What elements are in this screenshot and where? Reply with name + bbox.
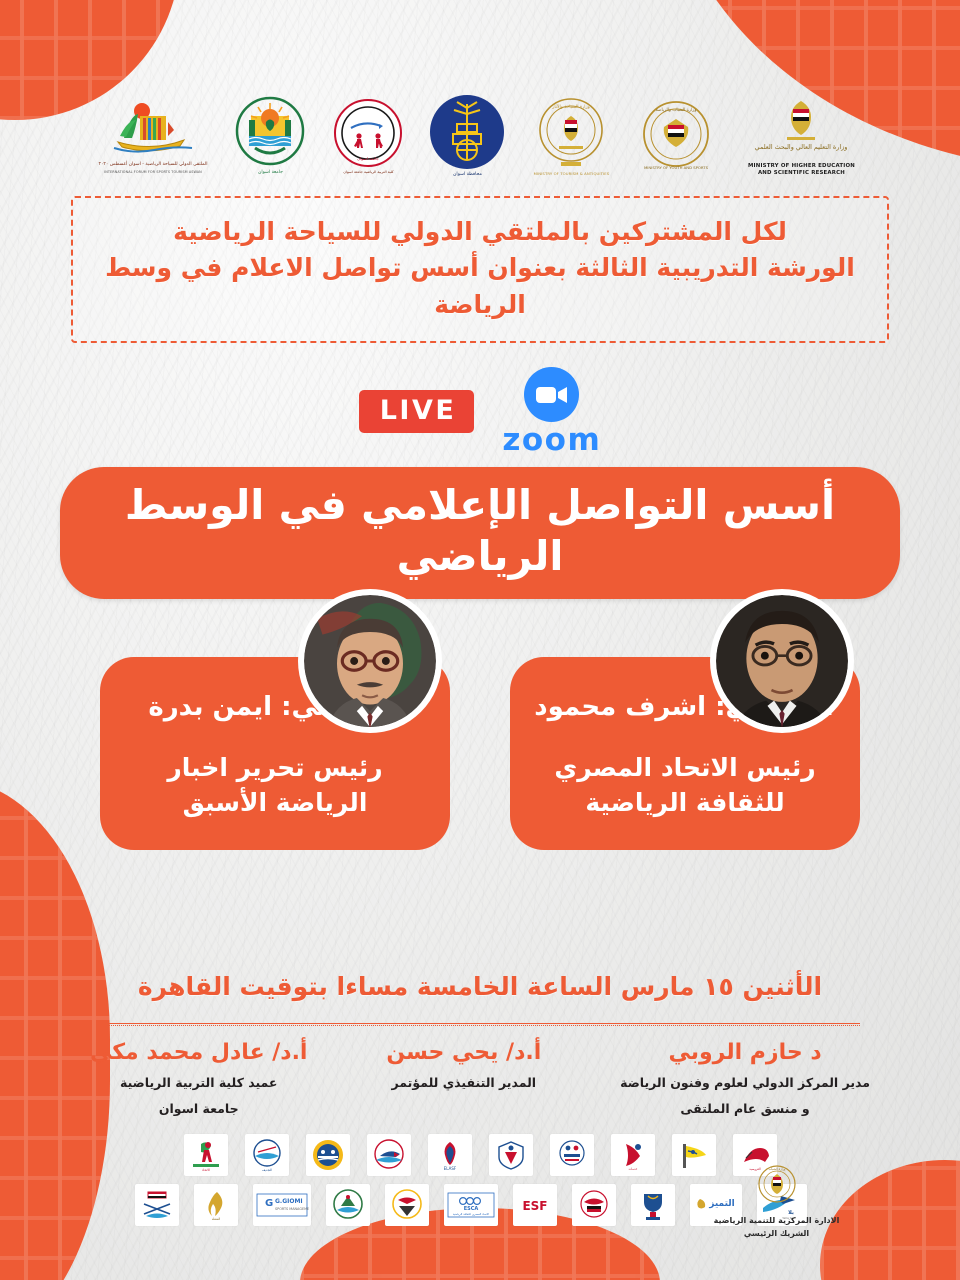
svg-text:G.GIOMI: G.GIOMI bbox=[275, 1198, 303, 1205]
speaker-portrait-ashraf-mahmoud bbox=[716, 595, 848, 727]
live-badge: LIVE bbox=[359, 390, 475, 433]
svg-text:SPORTS MANAGEMENT: SPORTS MANAGEMENT bbox=[275, 1207, 309, 1211]
svg-text:ELASF: ELASF bbox=[443, 1166, 456, 1171]
section-divider bbox=[100, 1023, 860, 1026]
sponsor-sports-union-badge bbox=[550, 1134, 594, 1176]
event-poster: الملتقى الدولي للسياحة الرياضية - اسوان … bbox=[0, 0, 960, 1280]
speaker-role-line-1: رئيس تحرير اخبار bbox=[167, 750, 382, 785]
sponsor-esca-egyptian-sports-culture-association: ESCAالاتحاد المصري للثقافة الرياضية bbox=[444, 1184, 498, 1226]
svg-text:MINISTRY OF YOUTH AND SPORTS: MINISTRY OF YOUTH AND SPORTS bbox=[644, 165, 709, 170]
credit-name: أ.د/ يحي حسن bbox=[361, 1040, 566, 1066]
aswan-governorate-logo: محافظة اسوان bbox=[429, 94, 505, 178]
sponsor-egyptian-rowing-federation: التجديف bbox=[245, 1134, 289, 1176]
video-camera-icon bbox=[535, 384, 569, 406]
credit-role-line-2: و منسق عام الملتقى bbox=[620, 1101, 870, 1118]
svg-text:التجديف: التجديف bbox=[261, 1168, 271, 1172]
ministry-tourism-caption-en: MINISTRY OF TOURISM & ANTIQUITIES bbox=[534, 172, 610, 177]
organizers-credits: د حازم الروبي مدير المركز الدولي لعلوم و… bbox=[0, 1040, 960, 1118]
sponsor-egyptian-sports-council bbox=[385, 1184, 429, 1226]
sponsor-sports-federation-badge bbox=[489, 1134, 533, 1176]
announcement-line-2: الورشة التدريبية الثالثة بعنوان أسس تواص… bbox=[93, 250, 867, 323]
svg-text:الشعلة: الشعلة bbox=[212, 1217, 221, 1221]
speaker-role-line-2: الرياضة الأسبق bbox=[167, 785, 382, 820]
faculty-pe-caption: كلية التربية الرياضية جامعة اسوان bbox=[343, 170, 393, 174]
main-title-banner: أسس التواصل الإعلامي في الوسط الرياضي bbox=[60, 467, 900, 600]
speaker-role-line-1: رئيس الاتحاد المصري bbox=[554, 750, 815, 785]
credit-hazem-elroby: د حازم الروبي مدير المركز الدولي لعلوم و… bbox=[620, 1040, 870, 1118]
forum-logo-caption-ar: الملتقى الدولي للسياحة الرياضية - اسوان … bbox=[99, 162, 208, 168]
zoom-circle bbox=[524, 367, 579, 422]
credit-name: أ.د/ عادل محمد مكي bbox=[90, 1040, 307, 1066]
aswan-governorate-caption: محافظة اسوان bbox=[453, 172, 482, 178]
speaker-role-line-2: للثقافة الرياضية bbox=[554, 785, 815, 820]
credit-role-line-1: المدير التنفيذي للمؤتمر bbox=[361, 1075, 566, 1092]
page-title: أسس التواصل الإعلامي في الوسط الرياضي bbox=[90, 480, 870, 583]
svg-text:وزارة السياحة والآثار: وزارة السياحة والآثار bbox=[552, 104, 590, 110]
svg-text:الاتحاد: الاتحاد bbox=[201, 1168, 209, 1172]
sponsor-egyptian-sailing-federation bbox=[367, 1134, 411, 1176]
svg-text:الاتحاد المصري للثقافة الرياضي: الاتحاد المصري للثقافة الرياضية bbox=[453, 1212, 490, 1216]
speaker-portrait-ayman-badra bbox=[304, 595, 436, 727]
announcement-box: لكل المشتركين بالملتقي الدولي للسياحة ال… bbox=[71, 196, 889, 343]
credit-role-line-2: جامعة اسوان bbox=[90, 1101, 307, 1118]
sponsor-egyptian-national-federation bbox=[572, 1184, 616, 1226]
ministry-of-tourism-antiquities-logo: وزارة السياحة والآثار MINISTRY OF TOURIS… bbox=[531, 96, 611, 177]
svg-text:خدمات: خدمات bbox=[628, 1167, 637, 1171]
ministry-higher-education-mark: وزارة التعليم العالي والبحث العلمي bbox=[741, 95, 861, 161]
svg-text:ESF: ESF bbox=[522, 1199, 547, 1213]
sponsor-egyptian-weightlifting-federation: الاتحاد bbox=[184, 1134, 228, 1176]
broadcast-row: LIVE zoom bbox=[0, 369, 960, 455]
svg-text:وزارة التعليم العالي والبحث ال: وزارة التعليم العالي والبحث العلمي bbox=[755, 143, 848, 151]
svg-text:جامعة اسوان: جامعة اسوان bbox=[358, 156, 380, 161]
svg-text:G: G bbox=[265, 1198, 273, 1209]
partner-caption-line-2: الشريك الرئيسي bbox=[689, 1228, 864, 1240]
ministry-higher-education-caption-en: MINISTRY OF HIGHER EDUCATION AND SCIENTI… bbox=[741, 163, 861, 177]
aswan-governorate-mark bbox=[429, 94, 505, 170]
ministry-youth-sports-mark: وزارة الشباب والرياضة MINISTRY OF YOUTH … bbox=[637, 99, 715, 173]
announcement-line-1: لكل المشتركين بالملتقي الدولي للسياحة ال… bbox=[93, 214, 867, 250]
sponsor-aswan-sport-club bbox=[326, 1184, 370, 1226]
sponsor-egypt-rowing-club bbox=[135, 1184, 179, 1226]
sponsor-egyptian-swimming-federation bbox=[306, 1134, 350, 1176]
partner-caption-line-1: الادارة المركزية للتنمية الرياضية bbox=[689, 1215, 864, 1227]
aswan-university-logo: جامعة اسوان bbox=[233, 96, 307, 176]
forum-logo-caption-en: INTERNATIONAL FORUM FOR SPORTS TOURISM A… bbox=[104, 170, 202, 174]
speaker-role: رئيس الاتحاد المصري للثقافة الرياضية bbox=[554, 750, 815, 820]
ministry-tourism-mark: وزارة السياحة والآثار bbox=[531, 96, 611, 170]
ministry-of-higher-education-logo: وزارة التعليم العالي والبحث العلمي MINIS… bbox=[741, 95, 861, 177]
sponsor-elasf-federation: ELASF bbox=[428, 1134, 472, 1176]
credit-name: د حازم الروبي bbox=[620, 1040, 870, 1066]
aswan-university-caption: جامعة اسوان bbox=[258, 170, 283, 176]
speaker-card-ayman-badra: الإعلامي: ايمن بدرة رئيس تحرير اخبار الر… bbox=[100, 657, 450, 850]
forum-logo-mark bbox=[110, 98, 196, 160]
speaker-role: رئيس تحرير اخبار الرياضة الأسبق bbox=[167, 750, 382, 820]
svg-text:وزارة الشباب والرياضة: وزارة الشباب والرياضة bbox=[656, 108, 697, 113]
event-datetime: الأثنين ١٥ مارس الساعة الخامسة مساءا بتو… bbox=[0, 972, 960, 1001]
main-partner-block: وزارة الشباب الادارة المركزية للتنمية ال… bbox=[689, 1164, 864, 1240]
zoom-wordmark: zoom bbox=[502, 425, 601, 456]
aswan-university-mark bbox=[233, 96, 307, 168]
faculty-physical-education-aswan-logo: جامعة اسوان كلية التربية الرياضية جامعة … bbox=[333, 98, 403, 174]
speakers-section: الإعلامي: ايمن بدرة رئيس تحرير اخبار الر… bbox=[0, 657, 960, 850]
sponsor-sports-services-logo: خدمات bbox=[611, 1134, 655, 1176]
international-sports-tourism-forum-logo: الملتقى الدولي للسياحة الرياضية - اسوان … bbox=[99, 98, 208, 174]
credit-role-line-1: عميد كلية التربية الرياضية bbox=[90, 1075, 307, 1092]
sponsor-egypt-sports-trophy bbox=[631, 1184, 675, 1226]
ministry-of-youth-and-sports-logo: وزارة الشباب والرياضة MINISTRY OF YOUTH … bbox=[637, 99, 715, 173]
faculty-pe-mark: جامعة اسوان bbox=[333, 98, 403, 168]
credit-adel-mohamed-makki: أ.د/ عادل محمد مكي عميد كلية التربية الر… bbox=[90, 1040, 307, 1118]
speaker-photo-ayman-badra bbox=[298, 589, 442, 733]
svg-text:وزارة الشباب: وزارة الشباب bbox=[768, 1167, 785, 1171]
zoom-logo: zoom bbox=[502, 367, 601, 456]
sponsor-esf: ESF bbox=[513, 1184, 557, 1226]
credit-role-line-1: مدير المركز الدولي لعلوم وفنون الرياضة bbox=[620, 1075, 870, 1092]
central-administration-sports-development-logo: وزارة الشباب bbox=[754, 1164, 800, 1208]
speaker-photo-ashraf-mahmoud bbox=[710, 589, 854, 733]
sponsor-golden-flame-logo: الشعلة bbox=[194, 1184, 238, 1226]
header-logo-strip: الملتقى الدولي للسياحة الرياضية - اسوان … bbox=[0, 0, 960, 186]
credit-yehia-hassan: أ.د/ يحي حسن المدير التنفيذي للمؤتمر bbox=[361, 1040, 566, 1092]
sponsor-g-giomi-sports-management: GG.GIOMISPORTS MANAGEMENT bbox=[253, 1184, 311, 1226]
speaker-card-ashraf-mahmoud: الإعلامي: اشرف محمود رئيس الاتحاد المصري… bbox=[510, 657, 860, 850]
